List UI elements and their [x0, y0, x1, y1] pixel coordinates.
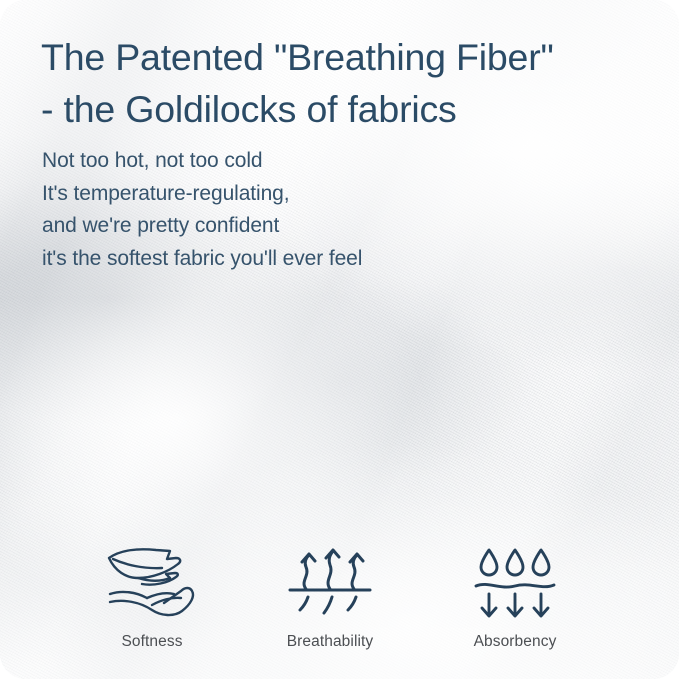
- water-droplets-absorbing-icon: [420, 547, 610, 621]
- feature-row: Softness: [0, 531, 679, 651]
- feature-label: Softness: [57, 633, 247, 651]
- feather-over-hand-icon: [57, 547, 247, 621]
- feature-breathability: Breathability: [235, 547, 425, 651]
- subtitle-copy: Not too hot, not too cold It's temperatu…: [42, 145, 642, 275]
- rising-airflow-arrows-icon: [235, 547, 425, 621]
- feature-label: Absorbency: [420, 633, 610, 651]
- fabric-feature-card: The Patented "Breathing Fiber" - the Gol…: [0, 0, 679, 679]
- feature-label: Breathability: [235, 633, 425, 651]
- card-content: The Patented "Breathing Fiber" - the Gol…: [0, 0, 679, 679]
- page-title: The Patented "Breathing Fiber" - the Gol…: [41, 31, 666, 135]
- feature-softness: Softness: [57, 547, 247, 651]
- feature-absorbency: Absorbency: [420, 547, 610, 651]
